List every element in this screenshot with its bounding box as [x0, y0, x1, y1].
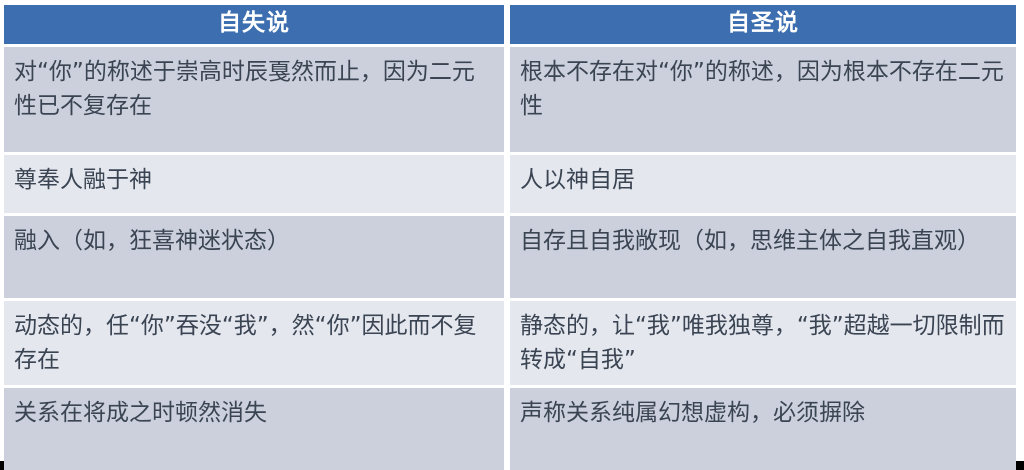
cell-self-loss-5: 关系在将成之时顿然消失: [4, 388, 510, 470]
cell-self-saint-4: 静态的，让“我”唯我独尊，“我”超越一切限制而转成“自我”: [510, 301, 1016, 388]
cell-self-saint-2: 人以神自居: [510, 155, 1016, 216]
cell-self-loss-2: 尊奉人融于神: [4, 155, 510, 216]
table-row: 融入（如，狂喜神迷状态） 自存且自我敞现（如，思维主体之自我直观）: [4, 216, 1016, 301]
table-row: 动态的，任“你”吞没“我”，然“你”因此而不复存在 静态的，让“我”唯我独尊，“…: [4, 301, 1016, 388]
cell-self-saint-1: 根本不存在对“你”的称述，因为根本不存在二元性: [510, 47, 1016, 155]
slide-canvas: 自失说 自圣说 对“你”的称述于崇高时辰戛然而止，因为二元性已不复存在 根本不存…: [0, 0, 1024, 461]
cell-self-loss-1: 对“你”的称述于崇高时辰戛然而止，因为二元性已不复存在: [4, 47, 510, 155]
column-header-self-saint: 自圣说: [510, 5, 1016, 47]
table-row: 对“你”的称述于崇高时辰戛然而止，因为二元性已不复存在 根本不存在对“你”的称述…: [4, 47, 1016, 155]
table-header: 自失说 自圣说: [4, 5, 1016, 47]
table-row: 关系在将成之时顿然消失 声称关系纯属幻想虚构，必须摒除: [4, 388, 1016, 470]
table-row: 尊奉人融于神 人以神自居: [4, 155, 1016, 216]
cell-self-saint-3: 自存且自我敞现（如，思维主体之自我直观）: [510, 216, 1016, 301]
table-body: 对“你”的称述于崇高时辰戛然而止，因为二元性已不复存在 根本不存在对“你”的称述…: [4, 47, 1016, 470]
cell-self-loss-4: 动态的，任“你”吞没“我”，然“你”因此而不复存在: [4, 301, 510, 388]
cell-self-loss-3: 融入（如，狂喜神迷状态）: [4, 216, 510, 301]
table-header-row: 自失说 自圣说: [4, 5, 1016, 47]
column-header-self-loss: 自失说: [4, 5, 510, 47]
cell-self-saint-5: 声称关系纯属幻想虚构，必须摒除: [510, 388, 1016, 470]
comparison-table: 自失说 自圣说 对“你”的称述于崇高时辰戛然而止，因为二元性已不复存在 根本不存…: [4, 5, 1016, 470]
